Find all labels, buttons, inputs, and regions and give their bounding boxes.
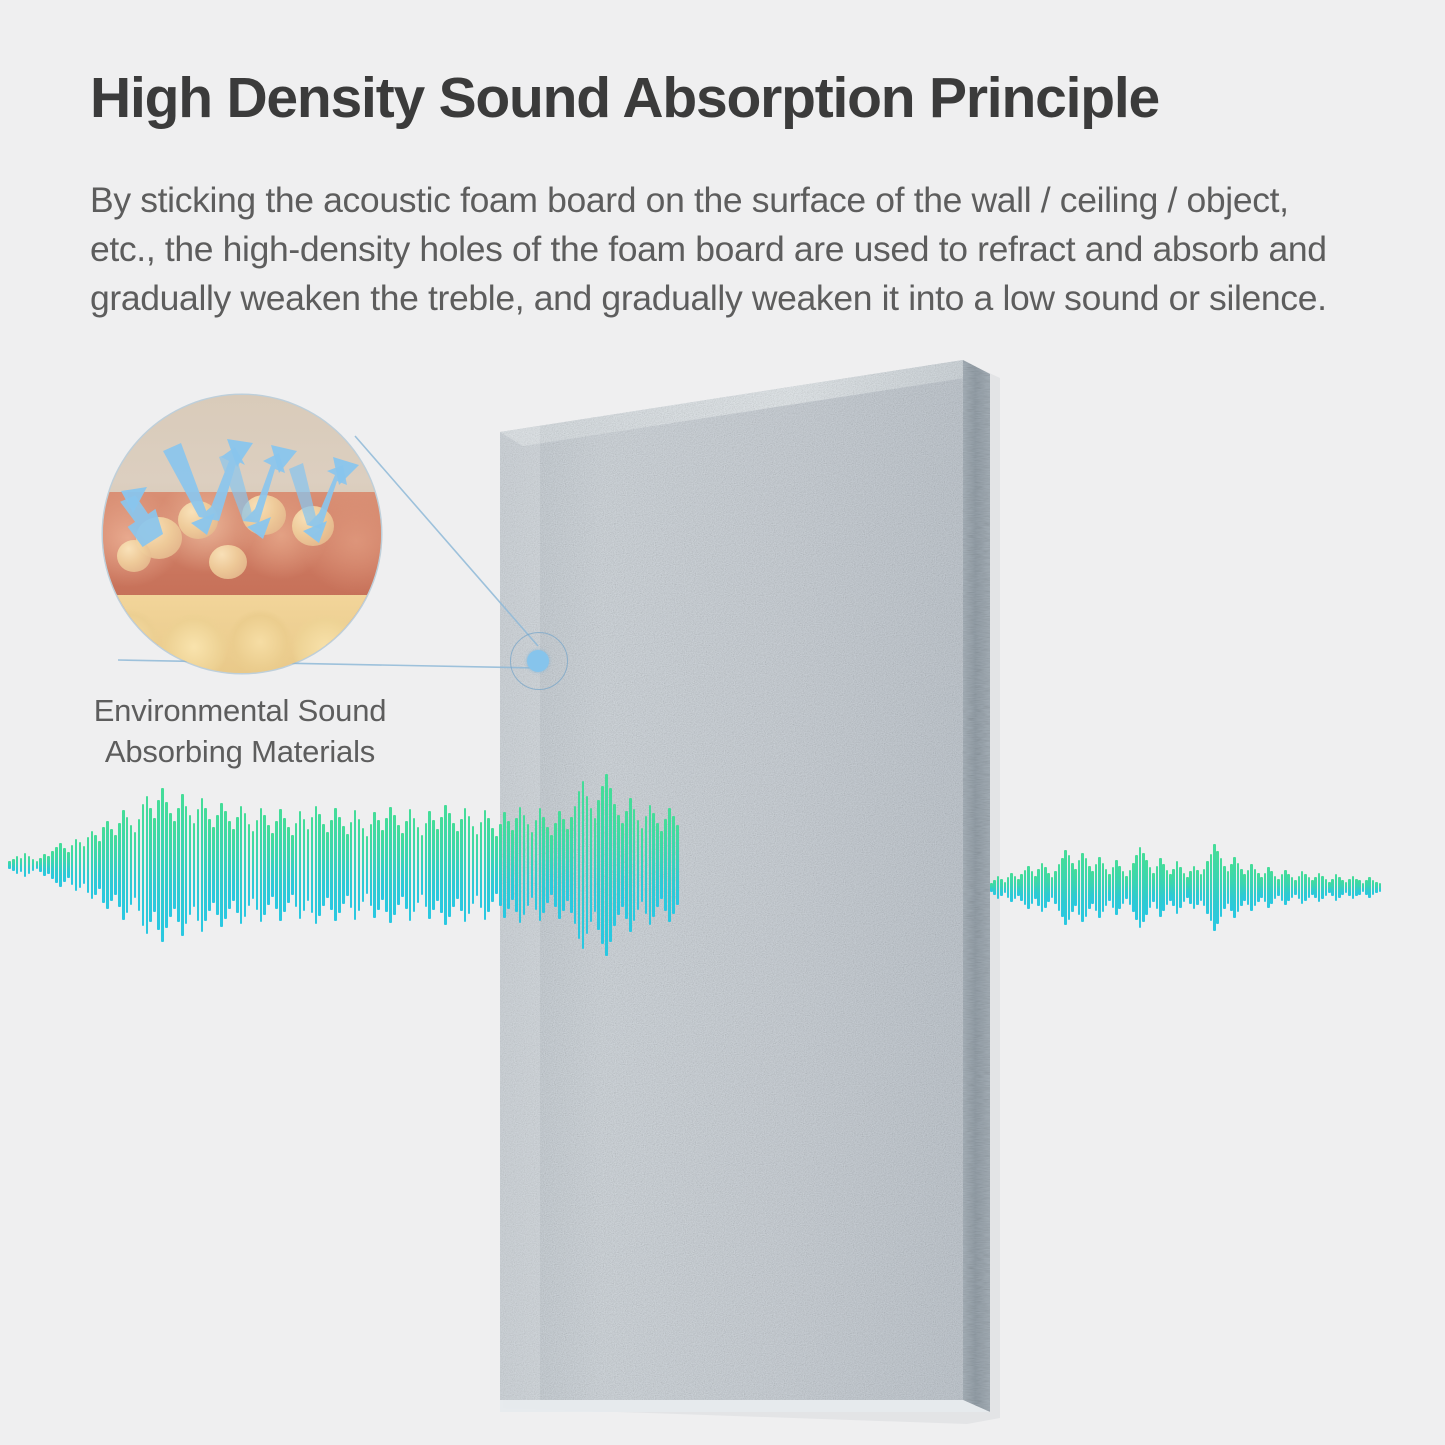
waveform-bar [1091,871,1094,903]
waveform-bar [389,807,392,924]
waveform-bar [1298,876,1301,899]
waveform-bar [91,831,94,898]
waveform-bar [1132,863,1135,913]
waveform-bar [574,806,577,925]
waveform-bar [1196,870,1199,905]
waveform-bar [1223,866,1226,910]
waveform-bar [523,815,526,914]
waveform-bar [370,824,373,905]
waveform-bar [201,798,204,933]
waveform-bar [373,812,376,917]
waveform-bar [1135,855,1138,919]
waveform-bar [20,858,23,872]
waveform-bar [676,825,679,904]
waveform-bar [1247,870,1250,905]
waveform-bar [1085,858,1088,916]
waveform-bar [1139,847,1142,929]
waveform-bar [668,808,671,923]
waveform-bar [1105,869,1108,907]
waveform-bar [582,781,585,950]
waveform-bar [79,842,82,888]
waveform-bar [1145,860,1148,915]
waveform-bar [1331,879,1334,896]
waveform-bar [248,824,251,905]
waveform-bar [1294,880,1297,895]
waveform-bar [1156,866,1159,910]
waveform-bar [1118,866,1121,910]
waveform-bar [1348,879,1351,896]
waveform-bar [189,815,192,914]
waveform-bar [283,818,286,911]
waveform-bar [597,800,600,931]
waveform-bar [271,833,274,896]
waveform-bar [161,788,164,943]
waveform-bar [59,843,62,887]
waveform-bar [1159,858,1162,916]
waveform-bar [1379,883,1382,892]
waveform-bar [1358,880,1361,895]
waveform-bar [16,856,19,874]
waveform-bar [1149,867,1152,908]
waveform-bar [1308,877,1311,897]
waveform-bar [1162,864,1165,911]
waveform-bar [1233,857,1236,918]
waveform-bar [672,816,675,913]
waveform-bar [1047,873,1050,902]
waveform-bar [1352,876,1355,899]
waveform-bar [641,828,644,901]
waveform-bar [208,819,211,910]
waveform-bar [157,800,160,931]
waveform-bar [609,788,612,943]
waveform-bar [240,806,243,925]
waveform-bar [1152,873,1155,902]
waveform-bar [267,825,270,904]
waveform-bar [291,835,294,894]
waveform-bar [260,808,263,923]
waveform-bar [1291,877,1294,897]
waveform-bar [39,858,42,872]
waveform-bar [1169,874,1172,900]
waveform-bar [63,848,66,882]
waveform-bar [409,809,412,920]
waveform-bar [1189,871,1192,903]
waveform-bar [377,820,380,909]
waveform-bar [126,817,129,912]
waveform-bar [173,821,176,908]
waveform-bar [114,835,117,894]
waveform-bar [401,833,404,896]
waveform-bar [83,846,86,884]
magnified-material-circle [103,395,381,673]
waveform-bar [1372,880,1375,895]
waveform-bar [67,852,70,878]
sound-wave-arrows [103,395,381,673]
waveform-bar [236,817,239,912]
waveform-bar [334,808,337,921]
waveform-bar [177,808,180,923]
waveform-bar [1362,883,1365,892]
waveform-bar [1375,882,1378,894]
waveform-bar [417,827,420,902]
waveform-bar [1267,867,1270,908]
waveform-bar [649,805,652,926]
waveform-bar [468,816,471,913]
waveform-bar [421,835,424,894]
waveform-bar [542,817,545,912]
waveform-bar [1193,866,1196,910]
waveform-bar [1287,874,1290,900]
waveform-bar [1243,874,1246,900]
waveform-bar [1210,854,1213,921]
waveform-bar [997,876,1000,899]
waveform-bar [440,817,443,912]
waveform-bar [1206,861,1209,913]
waveform-bar [1081,853,1084,923]
waveform-bar [1274,876,1277,899]
waveform-bar [625,811,628,918]
waveform-bar [1264,873,1267,902]
page-title: High Density Sound Absorption Principle [90,68,1360,130]
waveform-bar [617,815,620,914]
waveform-bar [110,829,113,900]
waveform-bar [1129,870,1132,905]
waveform-bar [102,827,105,902]
waveform-bar [165,802,168,929]
waveform-bar [507,821,510,908]
waveform-bar [633,809,636,920]
waveform-bar [476,834,479,895]
waveform-bar [55,847,58,883]
waveform-bar [1095,864,1098,911]
waveform-bar [51,851,54,879]
waveform-bar [1355,879,1358,896]
waveform-bar [464,808,467,923]
waveform-bar [256,820,259,909]
waveform-bar [295,823,298,906]
waveform-bar [1068,855,1071,919]
waveform-bar [204,808,207,921]
waveform-bar [1044,867,1047,908]
waveform-bar [487,818,490,911]
waveform-bar [413,818,416,911]
waveform-bar [480,822,483,907]
attenuated-sound-waveform [990,840,1382,935]
waveform-bar [303,819,306,910]
waveform-bar [322,824,325,905]
waveform-bar [1034,876,1037,899]
waveform-bar [590,808,593,923]
waveform-bar [554,823,557,906]
waveform-bar [134,832,137,897]
waveform-bar [220,803,223,928]
waveform-bar [350,822,353,907]
magnifier-caption-line2: Absorbing Materials [105,734,375,769]
waveform-bar [366,836,369,893]
waveform-bar [1200,874,1203,900]
waveform-bar [8,861,11,869]
waveform-bar [338,817,341,912]
waveform-bar [1304,874,1307,900]
waveform-bar [1227,871,1230,903]
waveform-bar [1335,874,1338,900]
waveform-bar [212,827,215,902]
waveform-bar [578,791,581,940]
waveform-bar [118,823,121,906]
waveform-bar [24,853,27,877]
callout-line-upper [355,436,538,646]
waveform-bar [1017,879,1020,896]
waveform-bar [1260,877,1263,897]
waveform-bar [1004,882,1007,894]
waveform-bar [1328,882,1331,894]
waveform-bar [1183,873,1186,902]
waveform-bar [1041,863,1044,913]
waveform-bar [1270,871,1273,903]
waveform-bar [318,814,321,915]
waveform-bar [193,823,196,906]
waveform-bar [1365,880,1368,895]
waveform-bar [621,823,624,906]
waveform-bar [1179,867,1182,908]
waveform-bar [425,823,428,906]
arrow-in-1 [163,443,207,517]
page-description: By sticking the acoustic foam board on t… [90,176,1352,323]
waveform-bar [1024,870,1027,905]
waveform-bar [232,829,235,900]
callout-dot [527,650,549,672]
waveform-bar [1166,870,1169,905]
waveform-bar [1010,873,1013,902]
waveform-bar [519,807,522,924]
incoming-sound-waveform [8,770,680,960]
waveform-bar [484,810,487,919]
waveform-bar [12,859,15,871]
waveform-bar [1311,880,1314,895]
waveform-bar [94,835,97,894]
waveform-bar [358,819,361,910]
waveform-bar [122,810,125,919]
waveform-bar [1250,864,1253,911]
waveform-bar [1122,871,1125,903]
waveform-bar [515,818,518,911]
waveform-bar [664,819,667,910]
waveform-bar [1230,864,1233,911]
waveform-bar [393,815,396,914]
waveform-bar [224,811,227,918]
waveform-bar [98,841,101,889]
waveform-bar [142,804,145,927]
waveform-bar [1284,870,1287,905]
waveform-bar [1172,869,1175,907]
waveform-bar [1051,877,1054,897]
waveform-bar [346,834,349,895]
waveform-bar [1213,844,1216,931]
waveform-bar [315,806,318,925]
magnifier-caption-line1: Environmental Sound [94,693,387,728]
arrow-reflect-left [120,492,165,549]
waveform-bar [279,809,282,920]
waveform-bar [1220,858,1223,916]
waveform-bar [1037,869,1040,907]
waveform-bar [1125,876,1128,899]
waveform-bar [75,839,78,891]
arrow-in-3 [289,463,317,525]
waveform-bar [605,774,608,956]
waveform-bar [1176,861,1179,913]
waveform-bar [613,804,616,927]
waveform-bar [656,823,659,906]
waveform-bar [169,813,172,916]
waveform-bar [1074,869,1077,907]
waveform-bar [1240,869,1243,907]
waveform-bar [527,824,530,905]
waveform-bar [550,835,553,894]
waveform-bar [586,796,589,935]
waveform-bar [87,837,90,893]
waveform-bar [1061,858,1064,916]
waveform-bar [531,832,534,897]
waveform-bar [354,810,357,919]
waveform-bar [1088,866,1091,910]
waveform-bar [36,861,39,869]
waveform-bar [460,819,463,910]
waveform-bar [436,829,439,900]
waveform-bar [1031,871,1034,903]
waveform-bar [216,815,219,914]
waveform-bar [1368,877,1371,897]
waveform-bar [1112,867,1115,908]
waveform-bar [456,831,459,898]
waveform-bar [448,813,451,916]
waveform-bar [1338,877,1341,897]
waveform-bar [993,880,996,895]
waveform-bar [149,808,152,923]
waveform-bar [263,815,266,914]
waveform-bar [491,828,494,901]
waveform-bar [566,829,569,900]
waveform-bar [287,827,290,902]
waveform-bar [1314,877,1317,897]
waveform-bar [444,805,447,926]
waveform-bar [385,818,388,911]
waveform-bar [558,811,561,918]
waveform-bar [326,832,329,897]
waveform-bar [1142,853,1145,923]
waveform-bar [428,811,431,918]
waveform-bar [539,808,542,921]
magnifier-caption: Environmental Sound Absorbing Materials [60,690,420,772]
waveform-bar [1345,882,1348,894]
waveform-bar [499,824,502,905]
waveform-bar [1020,874,1023,900]
waveform-bar [1098,857,1101,918]
waveform-bar [1325,879,1328,896]
waveform-bar [660,831,663,898]
waveform-bar [601,786,604,945]
waveform-bar [629,798,632,933]
waveform-bar [71,845,74,885]
waveform-bar [452,823,455,906]
waveform-bar [511,830,514,899]
waveform-bar [47,856,50,874]
waveform-bar [106,821,109,908]
waveform-bar [570,817,573,912]
waveform-bar [28,856,31,874]
waveform-bar [330,820,333,909]
waveform-bar [1014,876,1017,899]
waveform-bar [299,811,302,918]
waveform-bar [535,820,538,909]
waveform-bar [503,812,506,917]
waveform-bar [362,828,365,901]
waveform-bar [562,819,565,910]
waveform-bar [1058,864,1061,911]
waveform-bar [990,883,993,892]
waveform-bar [1071,863,1074,913]
waveform-bar [1203,869,1206,907]
acoustic-panel-infographic: Environmental Sound Absorbing Materials … [0,0,1445,1445]
waveform-bar [32,859,35,871]
waveform-bar [275,821,278,908]
waveform-bar [146,796,149,935]
waveform-bar [381,830,384,899]
waveform-bar [1321,876,1324,899]
waveform-bar [1054,871,1057,903]
waveform-bar [1301,871,1304,903]
waveform-bar [181,794,184,937]
waveform-bar [185,806,188,925]
waveform-bar [472,826,475,903]
waveform-bar [1108,874,1111,900]
waveform-bar [138,819,141,910]
waveform-bar [1115,860,1118,915]
waveform-bar [244,813,247,916]
waveform-bar [1000,879,1003,896]
waveform-bar [130,825,133,904]
waveform-bar [311,817,314,912]
waveform-bar [307,829,310,900]
waveform-bar [1007,877,1010,897]
waveform-bar [652,813,655,916]
waveform-bar [252,831,255,898]
waveform-bar [1064,850,1067,926]
waveform-bar [1318,873,1321,902]
waveform-bar [1078,860,1081,915]
waveform-bar [405,821,408,908]
waveform-bar [495,836,498,893]
waveform-bar [397,825,400,904]
waveform-bar [594,818,597,911]
waveform-bar [1237,863,1240,913]
waveform-bar [342,826,345,903]
waveform-bar [43,854,46,876]
waveform-bar [1281,874,1284,900]
waveform-bar [1341,880,1344,895]
waveform-bar [1102,863,1105,913]
waveform-bar [1186,877,1189,897]
waveform-bar [432,820,435,909]
waveform-bar [645,816,648,913]
waveform-bar [197,809,200,920]
waveform-bar [546,827,549,902]
waveform-bar [1027,866,1030,910]
waveform-bar [1257,873,1260,902]
waveform-bar [1216,851,1219,924]
waveform-bar [1277,879,1280,896]
waveform-bar [228,821,231,908]
waveform-bar [153,818,156,911]
